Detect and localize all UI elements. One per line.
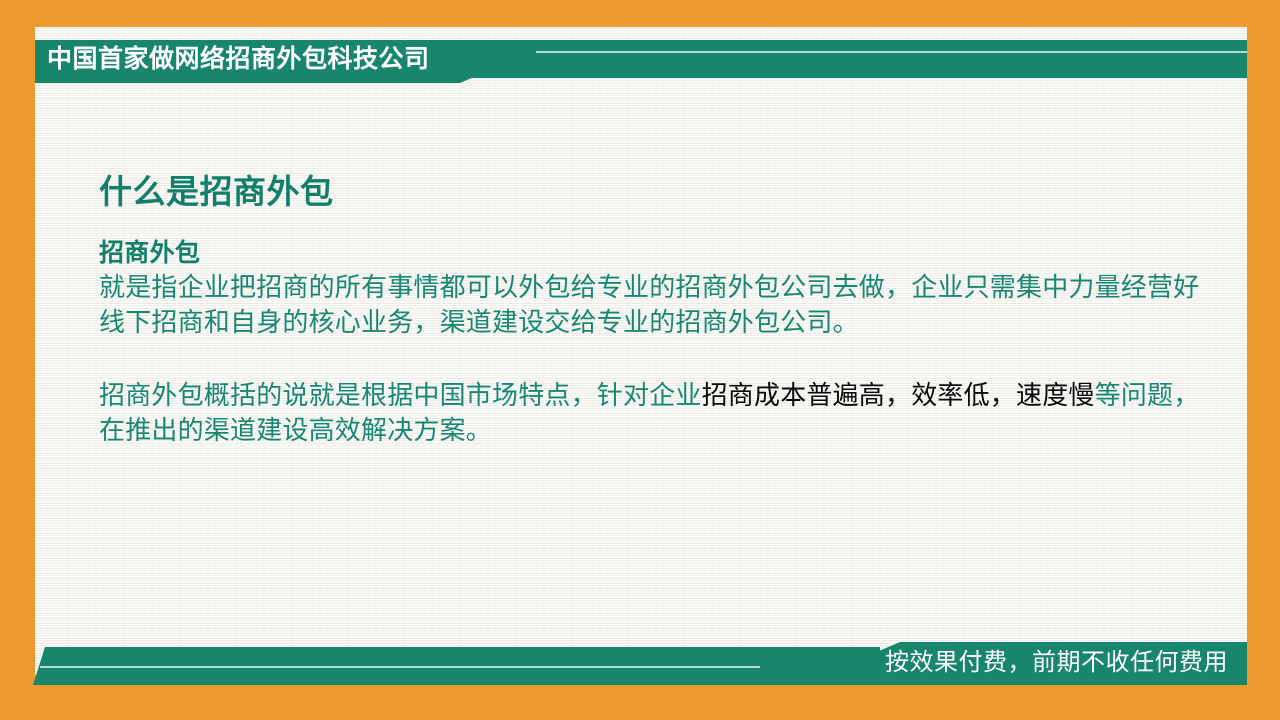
footer-tagline: 按效果付费，前期不收任何费用 <box>885 648 1228 678</box>
main-content: 什么是招商外包 招商外包 就是指企业把招商的所有事情都可以外包给专业的招商外包公… <box>99 170 1224 448</box>
slide-root: 中国首家做网络招商外包科技公司 什么是招商外包 招商外包 就是指企业把招商的所有… <box>0 0 1280 720</box>
summary-text-lead: 招商外包概括的说就是根据中国市场特点，针对企业 <box>99 380 702 410</box>
definition-block: 招商外包 就是指企业把招商的所有事情都可以外包给专业的招商外包公司去做，企业只需… <box>99 236 1224 448</box>
definition-paragraph: 就是指企业把招商的所有事情都可以外包给专业的招商外包公司去做，企业只需集中力量经… <box>99 270 1224 340</box>
summary-paragraph: 招商外包概括的说就是根据中国市场特点，针对企业招商成本普遍高，效率低，速度慢等问… <box>99 378 1224 448</box>
header-title: 中国首家做网络招商外包科技公司 <box>47 44 517 74</box>
summary-text-emphasis: 招商成本普遍高，效率低，速度慢 <box>702 380 1095 410</box>
page-title: 什么是招商外包 <box>99 170 1224 214</box>
definition-term: 招商外包 <box>99 236 1224 270</box>
paragraph-spacer <box>99 340 1224 378</box>
